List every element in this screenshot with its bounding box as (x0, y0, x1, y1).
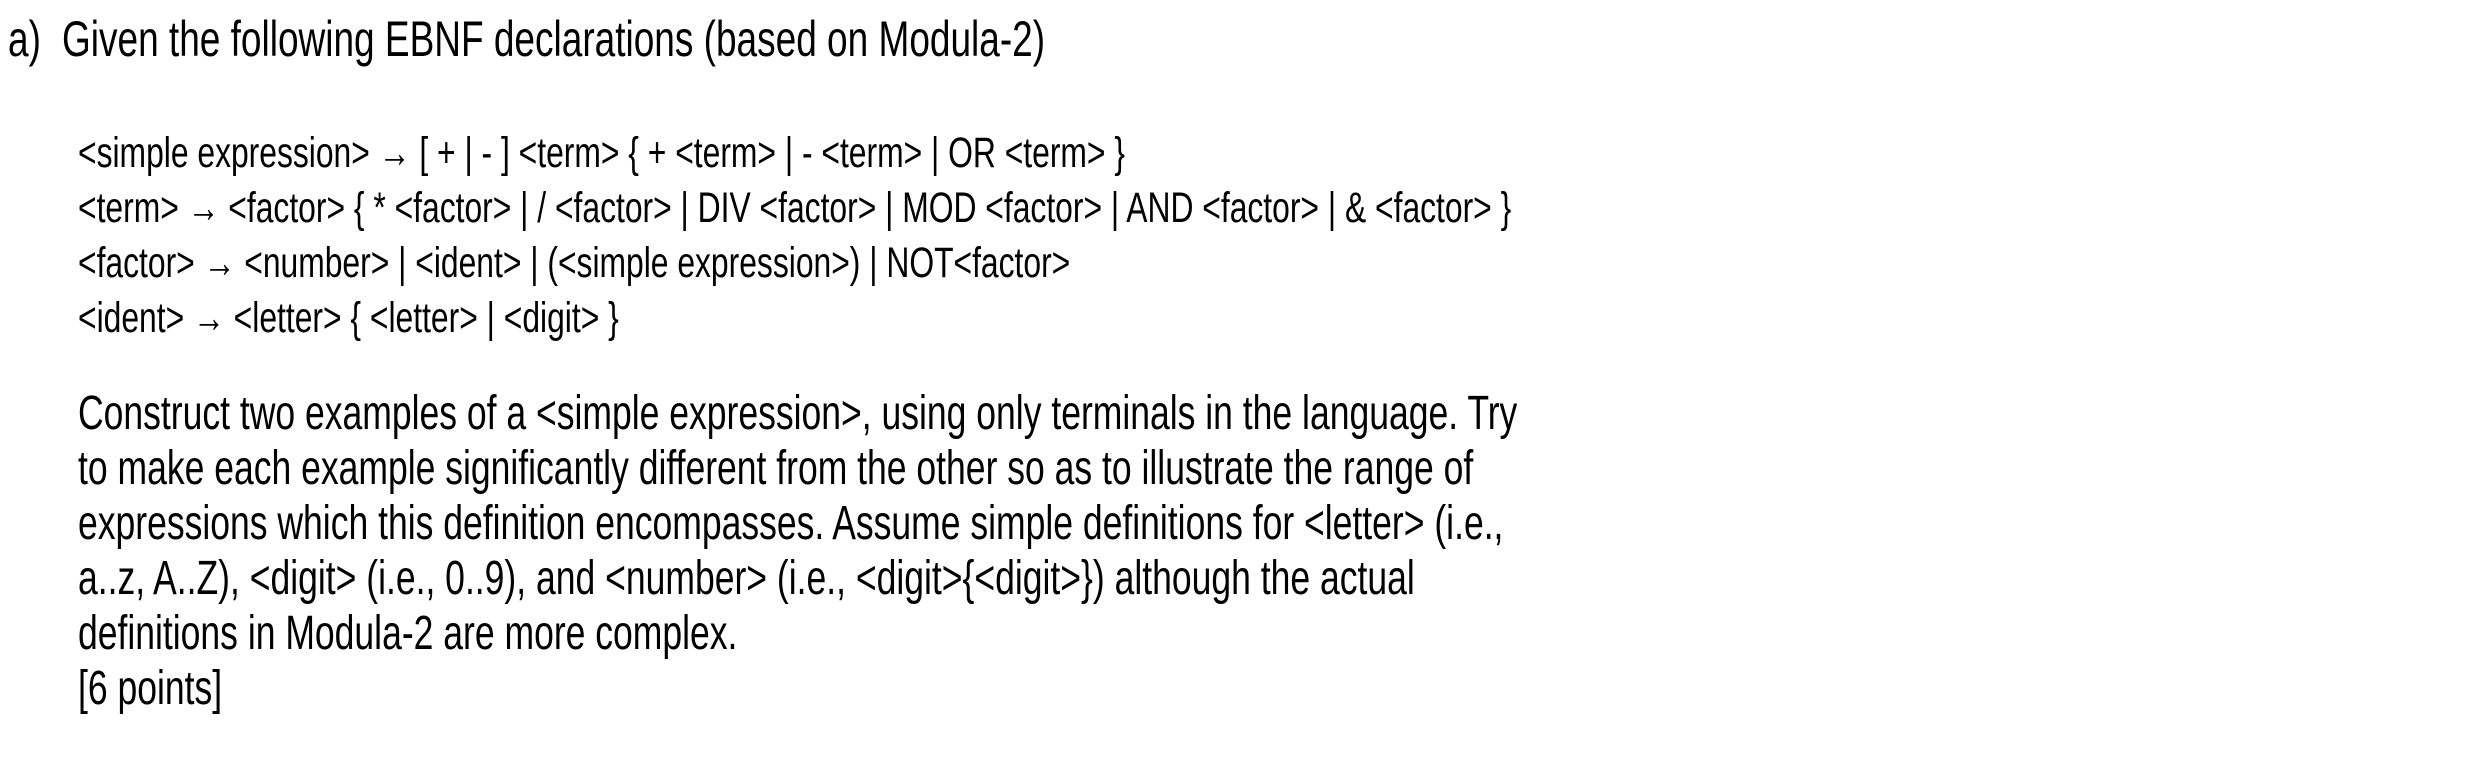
instruction-line-text: definitions in Modula-2 are more complex… (78, 606, 737, 661)
grammar-rule-factor: <factor> → <number> | <ident> | (<simple… (78, 236, 2458, 291)
instruction-line-text: expressions which this definition encomp… (78, 496, 1503, 551)
question-label: a) (8, 8, 52, 70)
ebnf-grammar-block: <simple expression> → [ + | - ] <term> {… (78, 126, 2458, 346)
points-allocation-text: [6 points] (78, 661, 222, 716)
grammar-rule-ident: <ident> → <letter> { <letter> | <digit> … (78, 291, 2458, 346)
points-allocation: [6 points] (78, 661, 2378, 716)
grammar-rule-term: <term> → <factor> { * <factor> | / <fact… (78, 181, 2458, 236)
instruction-line: expressions which this definition encomp… (78, 496, 2378, 551)
grammar-rule-ident-text: <ident> → <letter> { <letter> | <digit> … (78, 291, 619, 346)
grammar-rule-simple-expression-text: <simple expression> → [ + | - ] <term> {… (78, 126, 1125, 181)
question-label-text: a) (8, 8, 41, 70)
grammar-rule-factor-text: <factor> → <number> | <ident> | (<simple… (78, 236, 1070, 291)
instruction-line-text: to make each example significantly diffe… (78, 441, 1473, 496)
instruction-line: a..z, A..Z), <digit> (i.e., 0..9), and <… (78, 551, 2378, 606)
instruction-line: definitions in Modula-2 are more complex… (78, 606, 2378, 661)
grammar-rule-term-text: <term> → <factor> { * <factor> | / <fact… (78, 181, 1511, 236)
question-heading: a) Given the following EBNF declarations… (8, 8, 2478, 70)
exam-question-page: a) Given the following EBNF declarations… (0, 0, 2486, 762)
instruction-line-text: Construct two examples of a <simple expr… (78, 386, 1517, 441)
grammar-rule-simple-expression: <simple expression> → [ + | - ] <term> {… (78, 126, 2458, 181)
instruction-line: Construct two examples of a <simple expr… (78, 386, 2378, 441)
instruction-line-text: a..z, A..Z), <digit> (i.e., 0..9), and <… (78, 551, 1415, 606)
question-instructions: Construct two examples of a <simple expr… (78, 386, 2378, 716)
question-title-text: Given the following EBNF declarations (b… (62, 8, 1045, 70)
instruction-line: to make each example significantly diffe… (78, 441, 2378, 496)
question-title: Given the following EBNF declarations (b… (62, 8, 1390, 70)
